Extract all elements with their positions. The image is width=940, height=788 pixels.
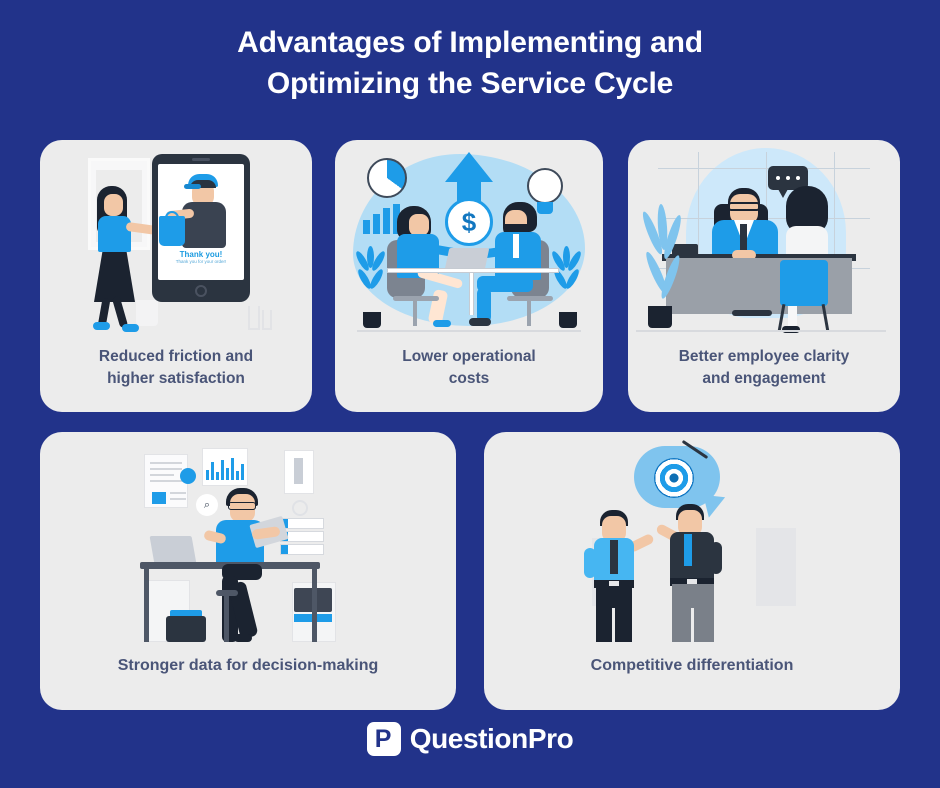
floor-line <box>636 330 886 332</box>
benefit-card-lower-costs[interactable]: $ <box>335 140 603 412</box>
floor-line <box>357 330 581 332</box>
questionpro-logo[interactable]: P QuestionPro <box>0 722 940 756</box>
glass-shape-2 <box>262 310 272 330</box>
woman-face-shape <box>104 194 123 216</box>
thank-you-subtext: Thank you for your order! <box>158 259 244 264</box>
desk-leg-left-shape <box>144 568 149 642</box>
analyst-shoe-shape <box>234 634 252 642</box>
tablet-speaker-shape <box>192 158 210 161</box>
courier-cap-brim-shape <box>184 184 201 189</box>
caption-line-1: Lower operational <box>345 346 593 368</box>
caption-line-1: Stronger data for decision-making <box>50 654 446 677</box>
caption-line-1: Better employee clarity <box>638 346 890 368</box>
document-text-line <box>150 462 182 464</box>
laptop-shape <box>445 248 490 270</box>
woman-top-shape <box>98 216 131 252</box>
card-caption: Competitive differentiation <box>484 654 900 677</box>
glass-shape-1 <box>248 306 260 330</box>
benefit-card-reduced-friction[interactable]: Thank you! Thank you for your order! Red… <box>40 140 312 412</box>
logo-mark-letter: P <box>375 727 392 752</box>
document-text-line <box>170 498 186 500</box>
benefit-card-competitive-differentiation[interactable]: Competitive differentiation <box>484 432 900 710</box>
target-bullseye-icon <box>654 458 694 498</box>
glasses-icon <box>228 502 256 510</box>
search-icon: ⌕ <box>196 494 218 516</box>
document-text-line <box>150 480 182 482</box>
page-title-line-2: Optimizing the Service Cycle <box>0 63 940 104</box>
table-leg-shape <box>469 273 474 315</box>
man-left-arm-shape <box>584 548 596 578</box>
shopping-bag-shape <box>159 216 185 246</box>
woman-face-shape <box>409 214 429 236</box>
illustration-delivery-tablet: Thank you! Thank you for your order! <box>40 140 312 340</box>
search-glyph: ⌕ <box>196 494 218 516</box>
window-grid-line <box>658 168 870 169</box>
bar-chart-icon <box>206 458 246 480</box>
man-lower-leg-shape <box>477 288 491 322</box>
card-caption: Lower operational costs <box>335 346 603 391</box>
plant-pot-shape <box>648 306 672 328</box>
card-caption: Reduced friction and higher satisfaction <box>40 346 312 391</box>
chat-bubble-tail-shape <box>778 189 788 198</box>
illustration-cost-meeting: $ <box>335 140 603 340</box>
illustration-office-meeting <box>628 140 900 340</box>
document-text-line <box>170 492 186 494</box>
dollar-coin-icon: $ <box>445 198 493 246</box>
man-right-leg-gap-shape <box>691 608 694 642</box>
laptop-shape <box>150 536 197 564</box>
illustration-analyst-desk: ⌕ <box>40 432 456 642</box>
lightbulb-base-shape <box>537 202 553 214</box>
woman-skirt-shape <box>94 248 135 302</box>
background-building-shape <box>756 528 796 606</box>
stool-leg-shape <box>224 594 229 642</box>
questionpro-logo-mark-icon: P <box>367 722 401 756</box>
wall-poster-inner-shape <box>294 458 303 484</box>
plant-pot-shape <box>136 300 158 326</box>
questionpro-logo-text: QuestionPro <box>410 723 574 755</box>
benefit-card-stronger-data[interactable]: ⌕ <box>40 432 456 710</box>
visitor-chair-shape <box>780 260 828 306</box>
book-on-desk-shape <box>672 244 698 256</box>
caption-line-2: costs <box>345 368 593 390</box>
man-shoe-shape <box>469 318 491 326</box>
caption-line-2: higher satisfaction <box>50 368 302 390</box>
growth-arrow-icon <box>445 152 493 182</box>
page-title-line-1: Advantages of Implementing and <box>0 22 940 63</box>
man-left-tie-shape <box>610 540 618 574</box>
woman-shoe-left-shape <box>93 322 110 330</box>
glasses-icon <box>728 202 760 211</box>
document-text-line <box>150 474 174 476</box>
man-right-arm-shape <box>710 542 722 574</box>
card-caption: Better employee clarity and engagement <box>628 346 900 391</box>
document-image-block <box>152 492 166 504</box>
document-text-line <box>150 468 182 470</box>
man-right-tie-shape <box>684 534 692 566</box>
man-right-jacket-shape <box>670 532 714 582</box>
illustration-two-men-talking <box>484 432 900 642</box>
man-shirt-shape <box>513 234 519 258</box>
clock-icon <box>292 500 308 516</box>
infographic-page: Advantages of Implementing and Optimizin… <box>0 0 940 788</box>
woman-shoe-right-shape <box>122 324 139 332</box>
man-chair-leg-shape <box>527 300 531 326</box>
office-chair-base-shape <box>732 310 772 316</box>
thank-you-text: Thank you! <box>180 250 223 259</box>
tablet-home-button-shape <box>195 285 207 297</box>
woman-chair-leg-shape <box>413 300 417 326</box>
lightbulb-icon <box>527 168 563 204</box>
woman-shoe-shape <box>433 320 451 327</box>
card-caption: Stronger data for decision-making <box>40 654 456 677</box>
caption-line-2: and engagement <box>638 368 890 390</box>
thank-you-message: Thank you! Thank you for your order! <box>158 250 244 264</box>
printer-shape <box>166 616 206 642</box>
caption-line-1: Competitive differentiation <box>494 654 890 677</box>
page-title: Advantages of Implementing and Optimizin… <box>0 22 940 105</box>
dollar-symbol: $ <box>448 201 490 243</box>
pie-chart-icon <box>367 158 407 198</box>
man-left-leg-gap-shape <box>612 608 615 642</box>
caption-line-1: Reduced friction and <box>50 346 302 368</box>
desk-leg-right-shape <box>312 568 317 642</box>
benefit-card-employee-clarity[interactable]: Better employee clarity and engagement <box>628 140 900 412</box>
donut-chart-icon <box>180 468 196 484</box>
